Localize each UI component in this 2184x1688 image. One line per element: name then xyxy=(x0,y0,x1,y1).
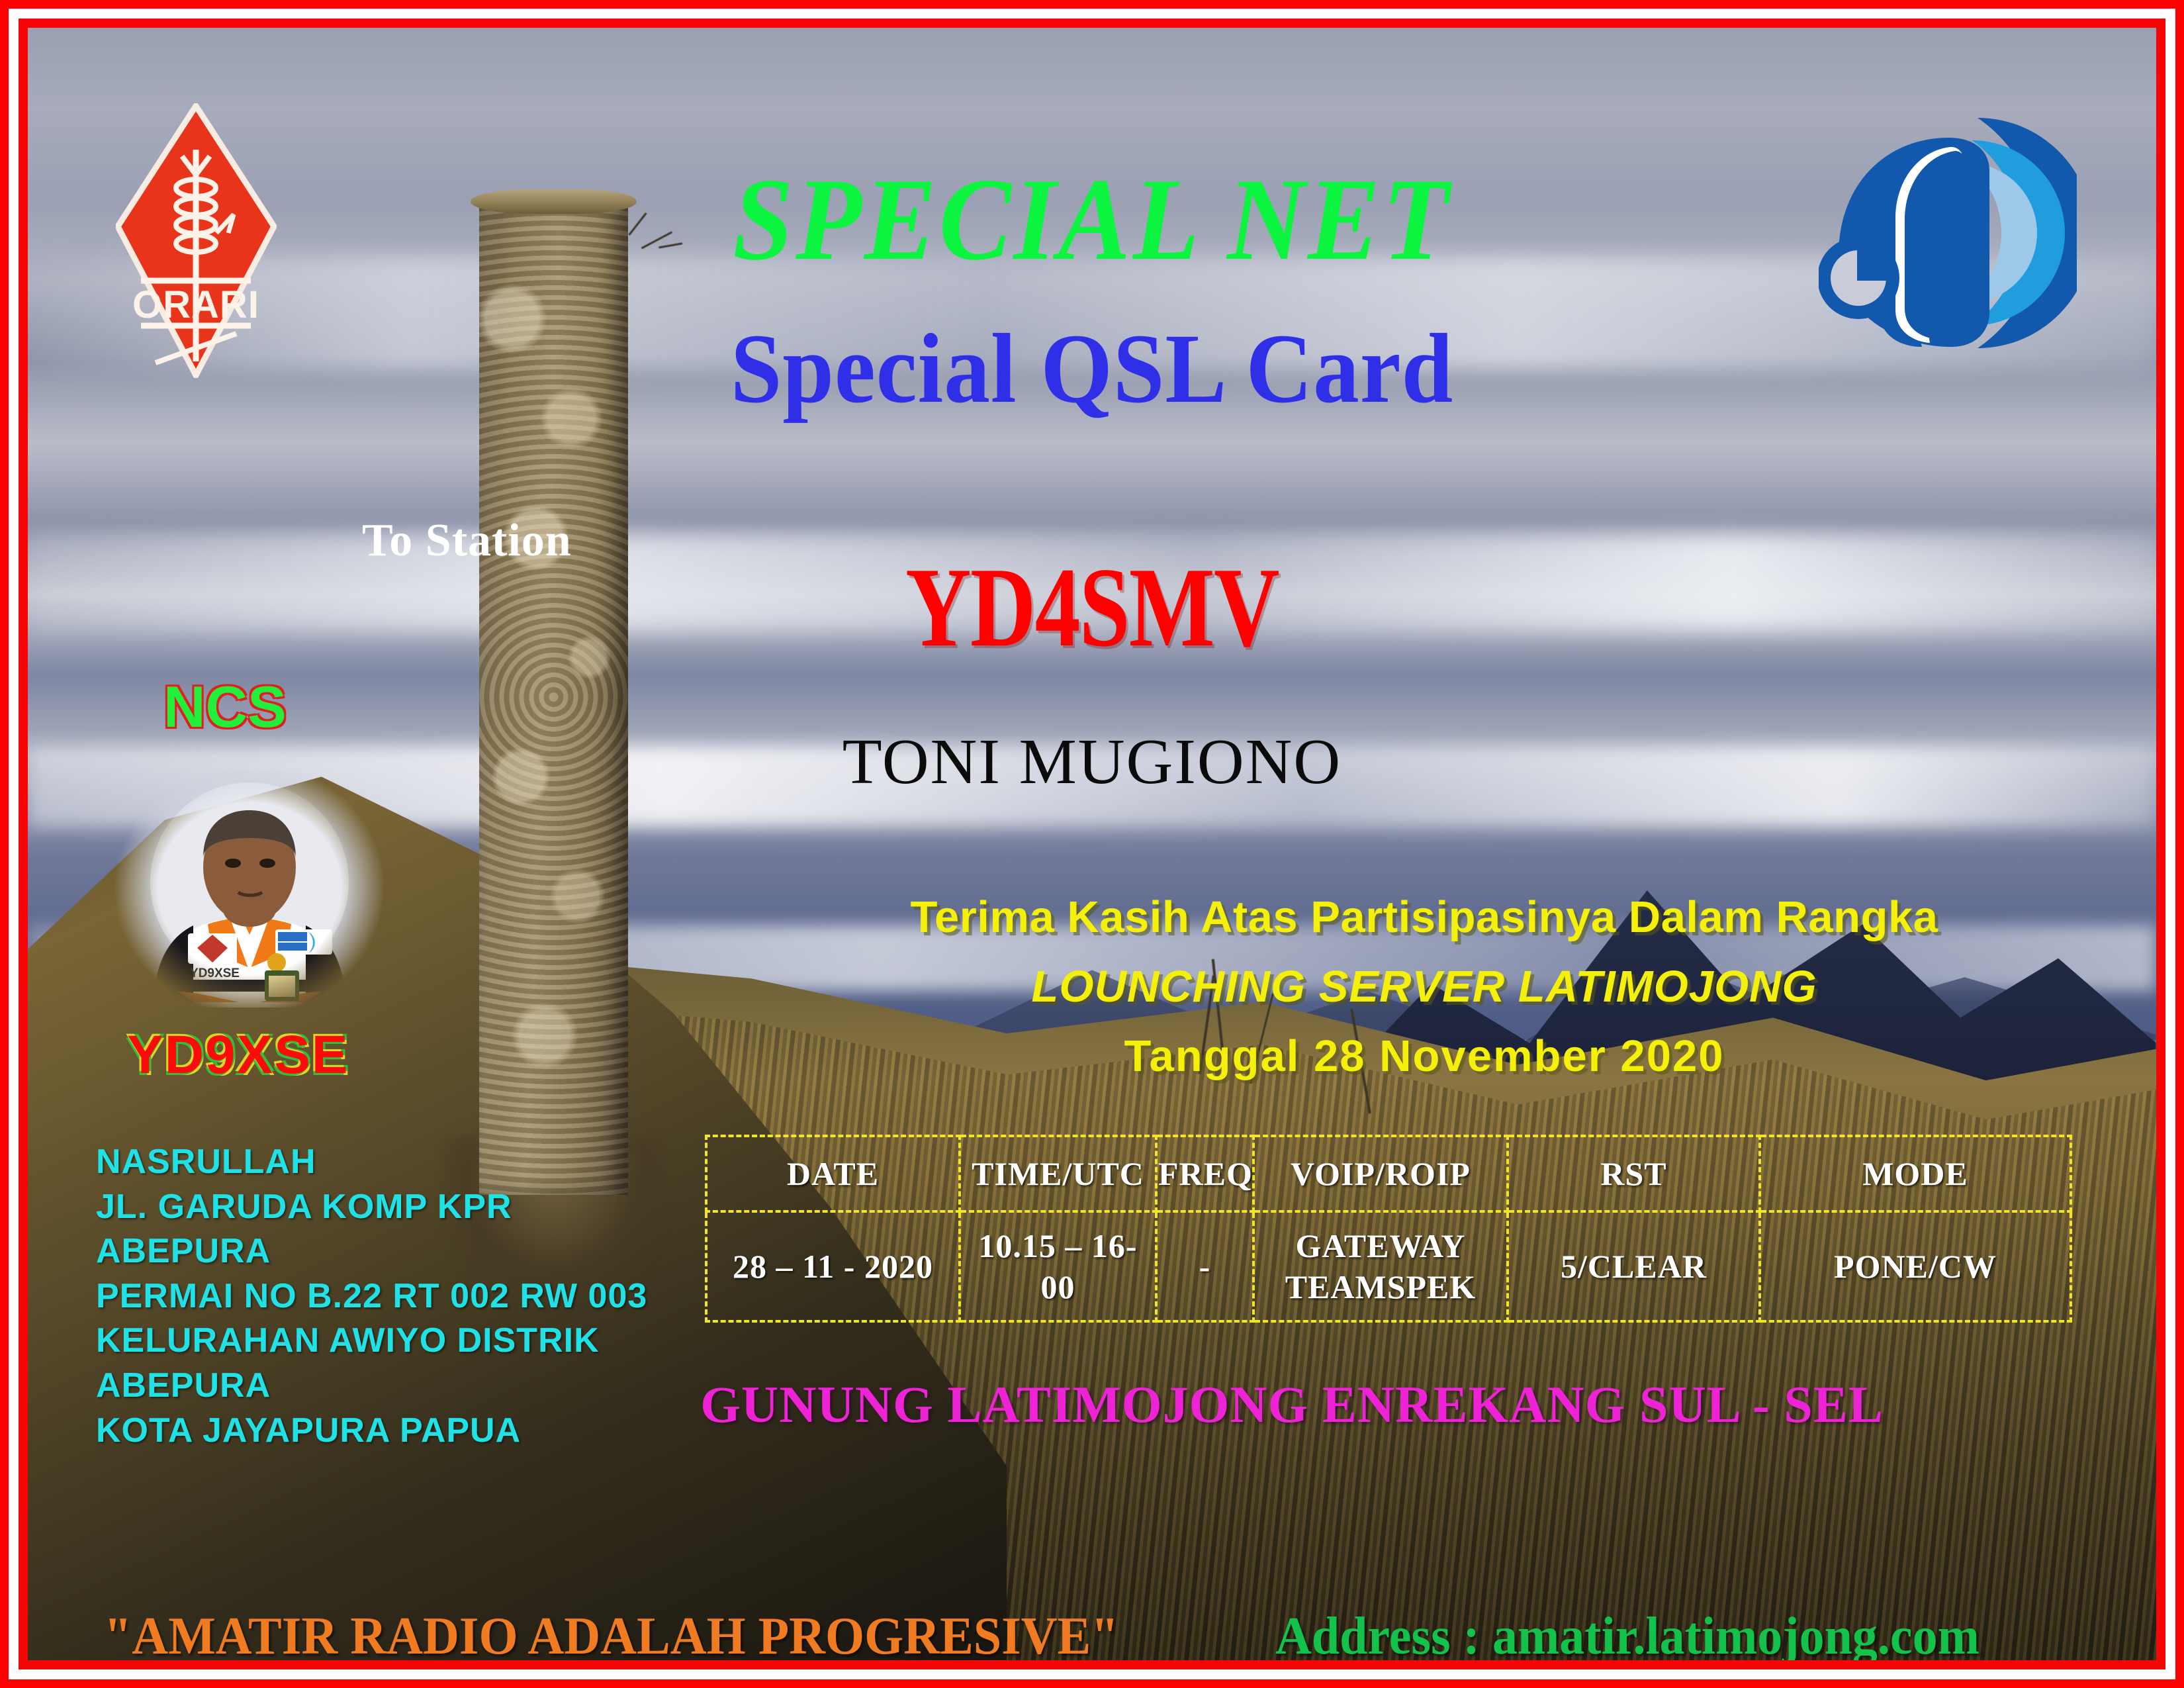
thanks-line: Terima Kasih Atas Partisipasinya Dalam R… xyxy=(729,892,2119,943)
ncs-callsign: YD9XSE xyxy=(127,1024,349,1086)
cell-time-utc: 10.15 – 16-00 xyxy=(960,1211,1156,1321)
column-header-voip-roip: VOIP/ROIP xyxy=(1253,1136,1508,1211)
address-line: JL. GARUDA KOMP KPR xyxy=(96,1185,647,1230)
cell-rst: 5/CLEAR xyxy=(1508,1211,1760,1321)
address-line: KELURAHAN AWIYO DISTRIK xyxy=(96,1319,647,1364)
column-header-mode: MODE xyxy=(1760,1136,2071,1211)
table-row: 28 – 11 - 2020 10.15 – 16-00 - GATEWAY T… xyxy=(706,1211,2071,1321)
address-block: NASRULLAH JL. GARUDA KOMP KPR ABEPURA PE… xyxy=(96,1140,647,1453)
column-header-date: DATE xyxy=(706,1136,960,1211)
subtitle: Special QSL Card xyxy=(103,319,2082,418)
card-white-gap: ORARI SPE xyxy=(9,9,2175,1679)
operator-photo: YD9XSE xyxy=(114,769,385,1008)
cell-mode: PONE/CW xyxy=(1760,1211,2071,1321)
background-photo: ORARI SPE xyxy=(28,28,2156,1660)
qso-table: DATE TIME/UTC FREQ VOIP/ROIP RST MODE 28… xyxy=(705,1135,2072,1323)
address-line: NASRULLAH xyxy=(96,1140,647,1185)
address-line: ABEPURA xyxy=(96,1364,647,1409)
ncs-label: NCS xyxy=(163,673,287,741)
qsl-card: ORARI SPE xyxy=(0,0,2184,1688)
column-header-rst: RST xyxy=(1508,1136,1760,1211)
event-line: LOUNCHING SERVER LATIMOJONG xyxy=(729,961,2119,1012)
location-label: GUNUNG LATIMOJONG ENREKANG SUL - SEL xyxy=(663,1375,1921,1434)
address-line: PERMAI NO B.22 RT 002 RW 003 xyxy=(96,1274,647,1319)
event-date-line: Tanggal 28 November 2020 xyxy=(729,1031,2119,1082)
station-callsign: YD4SMV xyxy=(241,551,1944,665)
address-line: ABEPURA xyxy=(96,1229,647,1274)
shirt-callsign-text: YD9XSE xyxy=(190,966,240,980)
web-address-text: Address : amatir.latimojong.com xyxy=(1275,1607,1979,1660)
cell-freq: - xyxy=(1156,1211,1253,1321)
card-inner-red-border: ORARI SPE xyxy=(19,19,2165,1669)
address-line: KOTA JAYAPURA PAPUA xyxy=(96,1409,647,1454)
motto-text: "AMATIR RADIO ADALAH PROGRESIVE" xyxy=(104,1607,1118,1660)
page-title: SPECIAL NET xyxy=(113,160,2071,278)
column-header-time-utc: TIME/UTC xyxy=(960,1136,1156,1211)
column-header-freq: FREQ xyxy=(1156,1136,1253,1211)
cell-date: 28 – 11 - 2020 xyxy=(706,1211,960,1321)
cell-voip-roip: GATEWAY TEAMSPEK xyxy=(1253,1211,1508,1321)
table-header-row: DATE TIME/UTC FREQ VOIP/ROIP RST MODE xyxy=(706,1136,2071,1211)
